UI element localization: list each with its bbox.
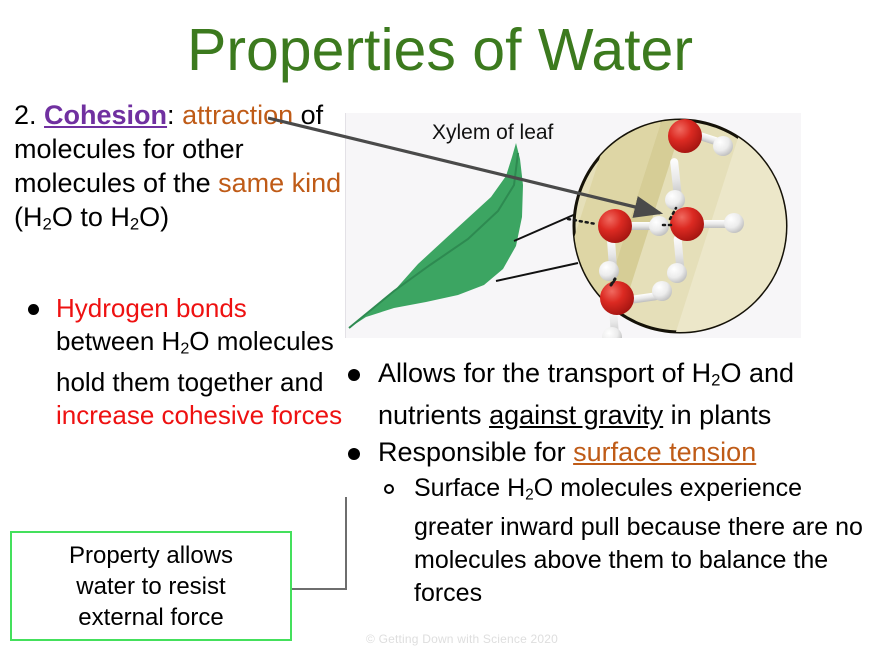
cohesive-forces-keyword: increase cohesive forces <box>56 400 342 430</box>
oxygen-atom <box>670 207 704 241</box>
subscript-two: 2 <box>525 486 534 503</box>
subscript-two: 2 <box>180 340 189 358</box>
definition-text-b: (H <box>14 202 43 232</box>
left-bullet-list: Hydrogen bonds between H2O molecules hol… <box>24 292 346 432</box>
hydrogen-bonds-keyword: Hydrogen bonds <box>56 293 247 323</box>
responsible-text: Responsible for <box>378 437 573 467</box>
list-number: 2. <box>14 100 44 130</box>
callout-connector-horizontal <box>292 588 347 590</box>
hydrogen-atom <box>724 213 744 233</box>
definition-text-c: O to H <box>52 202 130 232</box>
callout-line-3: external force <box>78 604 223 631</box>
list-item: Responsible for surface tension <box>340 435 876 470</box>
list-item: Hydrogen bonds between H2O molecules hol… <box>24 292 346 432</box>
sub-list-item: Surface H2O molecules experience greater… <box>340 472 876 610</box>
same-kind-keyword: same kind <box>218 168 341 198</box>
hydrogen-atom <box>602 327 622 338</box>
definition-text-d: O) <box>139 202 169 232</box>
zoom-connector-lower <box>496 263 578 281</box>
leaf-blade <box>349 143 523 328</box>
callout-text: Property allows water to resist external… <box>69 540 233 633</box>
bullet-text-a: between H <box>56 326 180 356</box>
xylem-figure-panel: Xylem of leaf <box>345 113 801 338</box>
hydrogen-atom <box>713 136 733 156</box>
list-item: Allows for the transport of H2O and nutr… <box>340 356 876 433</box>
slide-canvas: Properties of Water 2. Cohesion: attract… <box>0 0 880 660</box>
against-gravity-keyword: against gravity <box>489 400 663 430</box>
bullet-dot-icon <box>28 304 39 315</box>
transport-text-a: Allows for the transport of H <box>378 358 711 388</box>
zoom-connector-upper <box>514 213 578 241</box>
property-callout-box: Property allows water to resist external… <box>10 531 292 641</box>
oxygen-atom <box>668 119 702 153</box>
subscript-two: 2 <box>130 215 139 234</box>
figure-caption: Xylem of leaf <box>432 121 553 145</box>
cohesion-definition: 2. Cohesion: attraction of molecules for… <box>14 98 344 242</box>
subscript-two: 2 <box>43 215 52 234</box>
bullet-dot-icon <box>348 369 360 381</box>
surface-text-a: Surface H <box>414 474 525 502</box>
bullet-ring-icon <box>384 484 394 494</box>
callout-line-2: water to resist <box>76 573 225 600</box>
leaf-illustration <box>349 143 523 328</box>
oxygen-atom <box>600 281 634 315</box>
hydrogen-atom <box>652 281 672 301</box>
right-text-column: Allows for the transport of H2O and nutr… <box>340 356 876 610</box>
hydrogen-atom <box>667 263 687 283</box>
callout-line-1: Property allows <box>69 542 233 569</box>
xylem-diagram-svg <box>346 113 801 338</box>
transport-text-c: in plants <box>663 400 771 430</box>
colon: : <box>167 100 175 130</box>
hydrogen-atom <box>649 216 669 236</box>
attraction-keyword: attraction <box>182 100 293 130</box>
left-text-column: 2. Cohesion: attraction of molecules for… <box>14 98 344 242</box>
hydrogen-atom <box>665 190 685 210</box>
bullet-dot-icon <box>348 448 360 460</box>
copyright-watermark: © Getting Down with Science 2020 <box>366 632 558 646</box>
surface-tension-keyword: surface tension <box>573 437 756 467</box>
cohesion-term: Cohesion <box>44 100 167 130</box>
magnified-view <box>542 113 801 338</box>
page-title: Properties of Water <box>0 18 880 82</box>
oxygen-atom <box>598 209 632 243</box>
